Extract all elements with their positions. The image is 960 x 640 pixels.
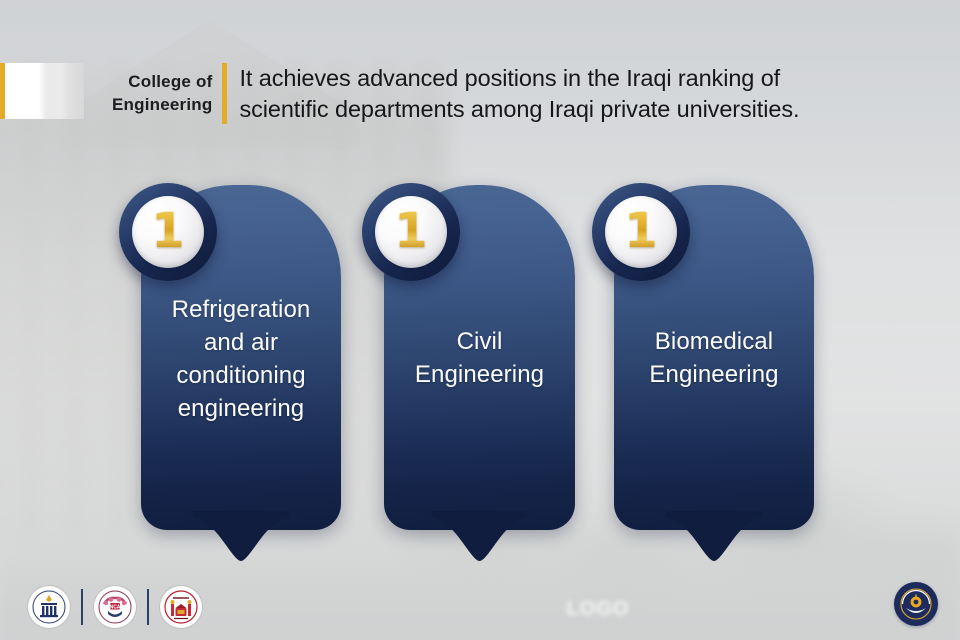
ranking-card-pin-tail: [432, 511, 528, 563]
ranking-card[interactable]: Biomedical Engineering 1: [614, 185, 814, 530]
ranking-card-label-line: Biomedical: [620, 325, 808, 358]
ranking-card-label: Civil Engineering: [390, 325, 569, 391]
center-watermark: LOGO: [545, 596, 651, 622]
ranking-card-label-line: Engineering: [390, 358, 569, 391]
ranking-card-label-line: Refrigeration: [147, 293, 335, 326]
national-accreditation-seal-icon: NCA: [94, 586, 136, 628]
college-of-engineering-seal-icon: [894, 582, 938, 626]
ranking-card[interactable]: Refrigeration and air conditioning engin…: [141, 185, 341, 530]
ranking-card[interactable]: Civil Engineering 1: [384, 185, 575, 530]
university-seal-arabic-icon: [160, 586, 202, 628]
footer-logo-group: NCA: [28, 586, 202, 628]
rank-badge-inner-disc: 1: [605, 196, 677, 268]
rank-badge: 1: [592, 183, 690, 281]
infographic-canvas: College of Engineering It achieves advan…: [0, 0, 960, 640]
ranking-card-label-line: Engineering: [620, 358, 808, 391]
ranking-card-label: Biomedical Engineering: [620, 325, 808, 391]
svg-text:NCA: NCA: [110, 604, 121, 610]
ranking-card-label: Refrigeration and air conditioning engin…: [147, 293, 335, 425]
footer-logo-divider: [147, 589, 149, 625]
rank-badge-number: 1: [394, 207, 427, 255]
ranking-card-pin-tail: [193, 511, 289, 563]
rank-badge-inner-disc: 1: [375, 196, 447, 268]
rank-badge: 1: [362, 183, 460, 281]
ranking-card-label-line: conditioning: [147, 359, 335, 392]
rank-badge-number: 1: [624, 207, 657, 255]
ranking-card-pin-tail: [666, 511, 762, 563]
rank-badge-inner-disc: 1: [132, 196, 204, 268]
ministry-of-higher-education-seal-icon: [28, 586, 70, 628]
ranking-card-label-line: Civil: [390, 325, 569, 358]
rank-badge: 1: [119, 183, 217, 281]
rank-badge-number: 1: [151, 207, 184, 255]
ranking-card-label-line: engineering: [147, 392, 335, 425]
ranking-card-row: Refrigeration and air conditioning engin…: [0, 0, 960, 640]
footer-logo-divider: [81, 589, 83, 625]
ranking-card-label-line: and air: [147, 326, 335, 359]
